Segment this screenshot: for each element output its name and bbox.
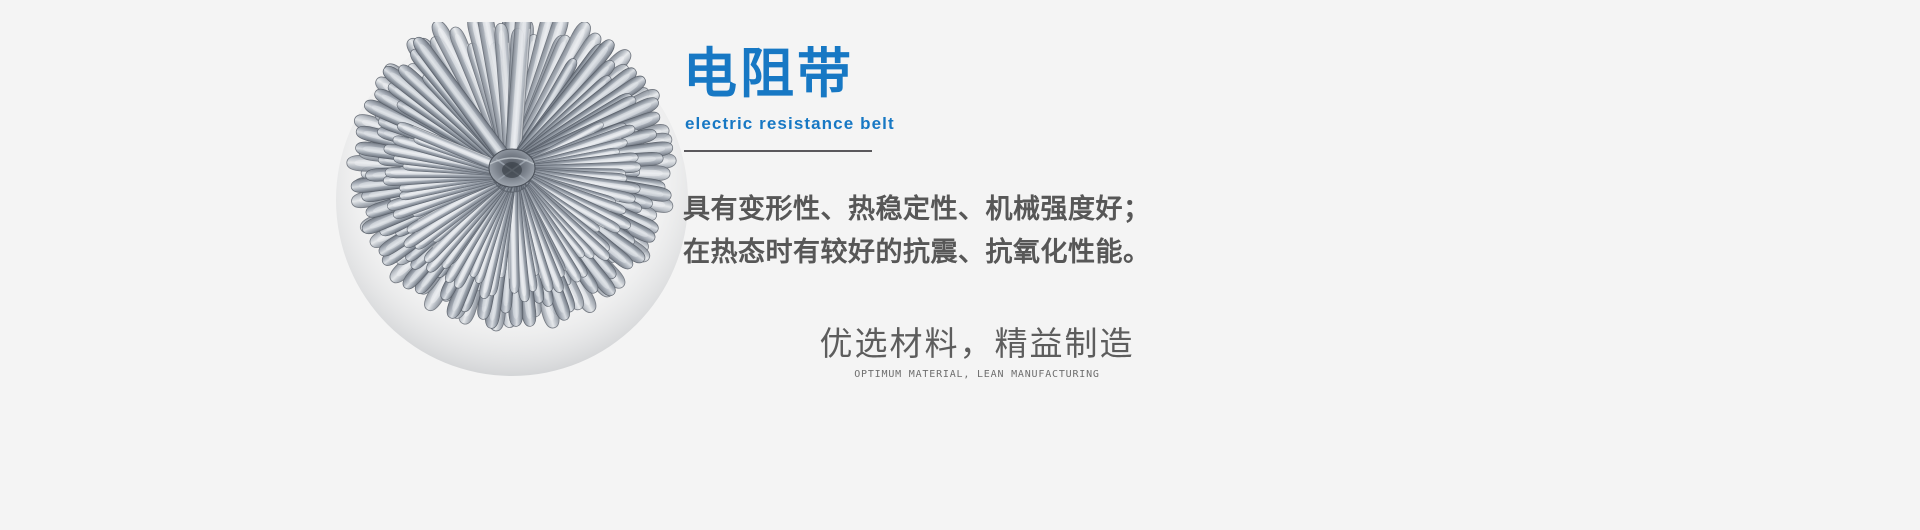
resistance-belt-coil-photo	[300, 22, 720, 442]
description-line-1: 具有变形性、热稳定性、机械强度好；	[683, 188, 1151, 231]
slogan-english: OPTIMUM MATERIAL, LEAN MANUFACTURING	[777, 368, 1177, 382]
title-divider	[684, 150, 872, 152]
page-title: 电阻带	[683, 44, 854, 104]
product-image	[300, 22, 720, 442]
text-column: 电阻带 electric resistance belt 具有变形性、热稳定性、…	[683, 0, 1783, 530]
slogan-chinese: 优选材料，精益制造	[777, 322, 1177, 366]
product-description: 具有变形性、热稳定性、机械强度好； 在热态时有较好的抗震、抗氧化性能。	[683, 188, 1151, 274]
page-subtitle: electric resistance belt	[685, 113, 895, 135]
product-banner: 电阻带 electric resistance belt 具有变形性、热稳定性、…	[0, 0, 1920, 530]
description-line-2: 在热态时有较好的抗震、抗氧化性能。	[683, 231, 1151, 274]
slogan-block: 优选材料，精益制造 OPTIMUM MATERIAL, LEAN MANUFAC…	[777, 322, 1177, 382]
